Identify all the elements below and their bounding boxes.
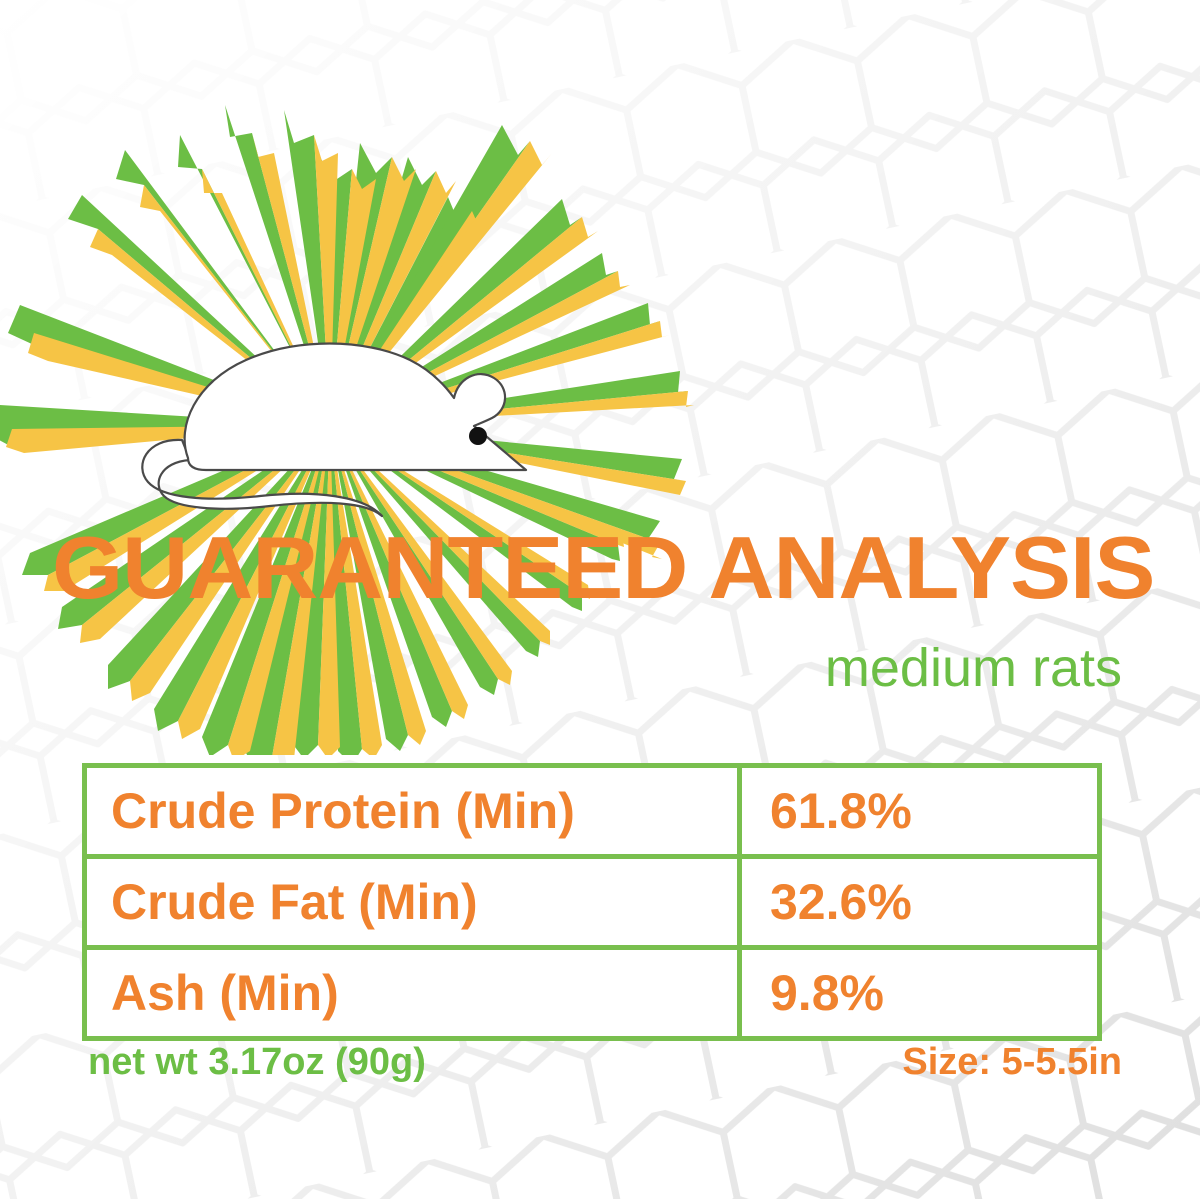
table-row: Ash (Min) 9.8% [87, 950, 1097, 1036]
guaranteed-analysis-label: GUARANTEED ANALYSIS medium rats Crude Pr… [0, 0, 1200, 1199]
nutrient-name: Crude Protein (Min) [87, 768, 742, 854]
nutrient-value: 32.6% [742, 859, 1097, 945]
size-text: Size: 5-5.5in [902, 1040, 1122, 1084]
nutrient-name: Ash (Min) [87, 950, 742, 1036]
page-title: GUARANTEED ANALYSIS [52, 522, 1196, 614]
nutrient-value: 61.8% [742, 768, 1097, 854]
rat-silhouette-icon [110, 320, 670, 550]
product-subtitle: medium rats [825, 638, 1122, 698]
label-footer: net wt 3.17oz (90g) Size: 5-5.5in [88, 1038, 1122, 1086]
table-row: Crude Protein (Min) 61.8% [87, 768, 1097, 859]
guaranteed-analysis-table: Crude Protein (Min) 61.8% Crude Fat (Min… [82, 763, 1102, 1041]
nutrient-name: Crude Fat (Min) [87, 859, 742, 945]
table-row: Crude Fat (Min) 32.6% [87, 859, 1097, 950]
nutrient-value: 9.8% [742, 950, 1097, 1036]
rat-eye-icon [469, 427, 487, 445]
net-weight-text: net wt 3.17oz (90g) [88, 1040, 426, 1084]
